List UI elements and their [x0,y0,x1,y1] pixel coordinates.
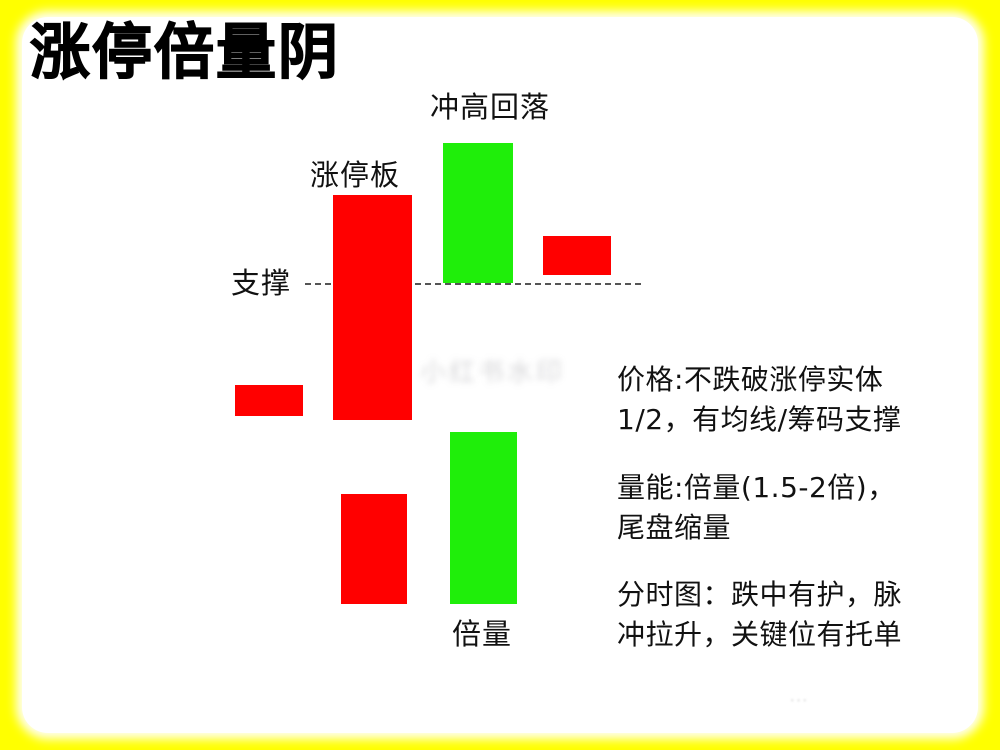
label-surge-high-pullback: 冲高回落 [430,90,550,124]
poster-root: 涨停倍量阴 冲高回落 涨停板 支撑 倍量 价格:不跌破涨停实体 1/2，有均线/… [0,0,1000,750]
note-intraday: 分时图：跌中有护，脉 冲拉升，关键位有托单 [617,575,902,655]
label-limit-up-board: 涨停板 [310,158,400,192]
label-support: 支撑 [231,266,291,300]
label-double-volume: 倍量 [452,617,512,651]
note-price: 价格:不跌破涨停实体 1/2，有均线/筹码支撑 [617,360,902,440]
corner-watermark: ··· [790,692,809,707]
volume-bar-2-green [450,432,517,604]
blurred-watermark: 小红书水印 [420,352,600,388]
price-candle-4-red [543,236,611,275]
price-candle-1-red [235,385,303,416]
volume-bar-1-red [341,494,407,604]
note-volume: 量能:倍量(1.5-2倍)， 尾盘缩量 [617,468,896,548]
price-candle-3-green [443,143,513,283]
price-candle-2-limit-up-red [333,195,412,420]
